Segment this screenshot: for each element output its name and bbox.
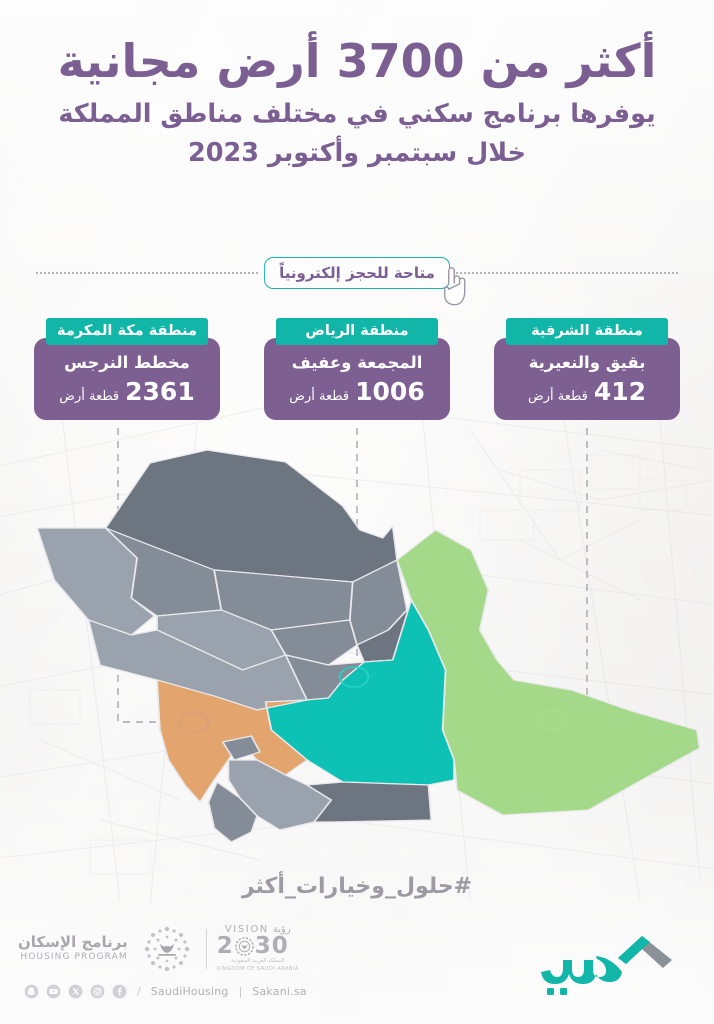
map-svg: [0, 430, 714, 850]
hand-pointer-icon: [437, 262, 469, 308]
social-links-row: / SaudiHousing | Sakani.sa: [24, 984, 307, 999]
saudi-arabia-map: [0, 430, 714, 850]
count-row-makkah: 2361 قطعة أرض: [44, 379, 210, 404]
region-card-makkah[interactable]: منطقة مكة المكرمة مخطط النرجس 2361 قطعة …: [34, 318, 220, 420]
x-twitter-icon[interactable]: [68, 984, 83, 999]
land-count-eastern: 412: [594, 379, 646, 404]
region-name-eastern: منطقة الشرقية: [506, 318, 668, 345]
footer: برنامج الإسكان HOUSING PROGRAM: [0, 912, 714, 1024]
footer-divider: [206, 929, 207, 969]
divider-line-right: [456, 272, 678, 274]
land-unit-eastern: قطعة أرض: [528, 390, 588, 403]
online-booking-label: متاحة للحجز إلكترونياً: [279, 266, 435, 281]
project-name-eastern: بقيق والنعيرية: [504, 354, 670, 372]
count-row-riyadh: 1006 قطعة أرض: [274, 379, 440, 404]
footer-logos: برنامج الإسكان HOUSING PROGRAM: [18, 922, 307, 976]
vision-num-right: 30: [255, 935, 289, 958]
instagram-icon[interactable]: [90, 984, 105, 999]
campaign-hashtag: #حلول_وخيارات_أكثر: [0, 874, 714, 899]
vision-sub-en: KINGDOM OF SAUDI ARABIA: [217, 966, 299, 974]
vision-sub-ar: المملكة العربية السعودية: [217, 958, 299, 966]
facebook-icon[interactable]: [112, 984, 127, 999]
housing-program-text: برنامج الإسكان HOUSING PROGRAM: [18, 934, 128, 964]
region-card-riyadh[interactable]: منطقة الرياض المجمعة وعفيف 1006 قطعة أرض: [264, 318, 450, 420]
vision-2030-number: 2 30: [217, 935, 299, 958]
count-row-eastern: 412 قطعة أرض: [504, 379, 670, 404]
project-name-riyadh: المجمعة وعفيف: [274, 354, 440, 372]
headline-period: خلال سبتمبر وأكتوبر 2023: [26, 137, 688, 170]
footer-slash: /: [137, 985, 141, 998]
footer-divider-pipe: |: [239, 985, 243, 998]
sakani-wordmark: [541, 956, 622, 995]
infographic-page: أكثر من 3700 أرض مجانية يوفرها برنامج سك…: [0, 0, 714, 1024]
saudi-emblem-icon: [138, 922, 196, 976]
region-card-body-makkah: مخطط النرجس 2361 قطعة أرض: [34, 338, 220, 420]
land-count-riyadh: 1006: [355, 379, 425, 404]
vision-emblem-icon: [235, 937, 254, 956]
sakani-logo: [500, 930, 690, 1002]
divider-line-left: [36, 272, 258, 274]
headline-secondary: يوفرها برنامج سكني في مختلف مناطق المملك…: [26, 98, 688, 131]
vision-2030-logo: VISION رؤية 2 30 المملكة العربية السعودي…: [217, 924, 299, 974]
online-booking-badge[interactable]: متاحة للحجز إلكترونياً: [264, 257, 450, 289]
youtube-icon[interactable]: [46, 984, 61, 999]
footer-left-group: برنامج الإسكان HOUSING PROGRAM: [18, 922, 307, 999]
website-link[interactable]: Sakani.sa: [252, 985, 306, 998]
project-name-makkah: مخطط النرجس: [44, 354, 210, 372]
region-name-makkah: منطقة مكة المكرمة: [46, 318, 208, 345]
region-card-eastern[interactable]: منطقة الشرقية بقيق والنعيرية 412 قطعة أر…: [494, 318, 680, 420]
region-cards: منطقة مكة المكرمة مخطط النرجس 2361 قطعة …: [0, 318, 714, 428]
social-handle[interactable]: SaudiHousing: [151, 985, 229, 998]
vision-num-left: 2: [217, 935, 234, 958]
housing-program-ar: برنامج الإسكان: [18, 934, 128, 951]
headline-primary: أكثر من 3700 أرض مجانية: [26, 34, 688, 88]
region-card-body-eastern: بقيق والنعيرية 412 قطعة أرض: [494, 338, 680, 420]
headline-block: أكثر من 3700 أرض مجانية يوفرها برنامج سك…: [0, 34, 714, 171]
land-unit-riyadh: قطعة أرض: [289, 390, 349, 403]
land-unit-makkah: قطعة أرض: [59, 390, 119, 403]
housing-program-en: HOUSING PROGRAM: [18, 951, 128, 965]
region-card-body-riyadh: المجمعة وعفيف 1006 قطعة أرض: [264, 338, 450, 420]
snapchat-icon[interactable]: [24, 984, 39, 999]
region-name-riyadh: منطقة الرياض: [276, 318, 438, 345]
land-count-makkah: 2361: [125, 379, 195, 404]
